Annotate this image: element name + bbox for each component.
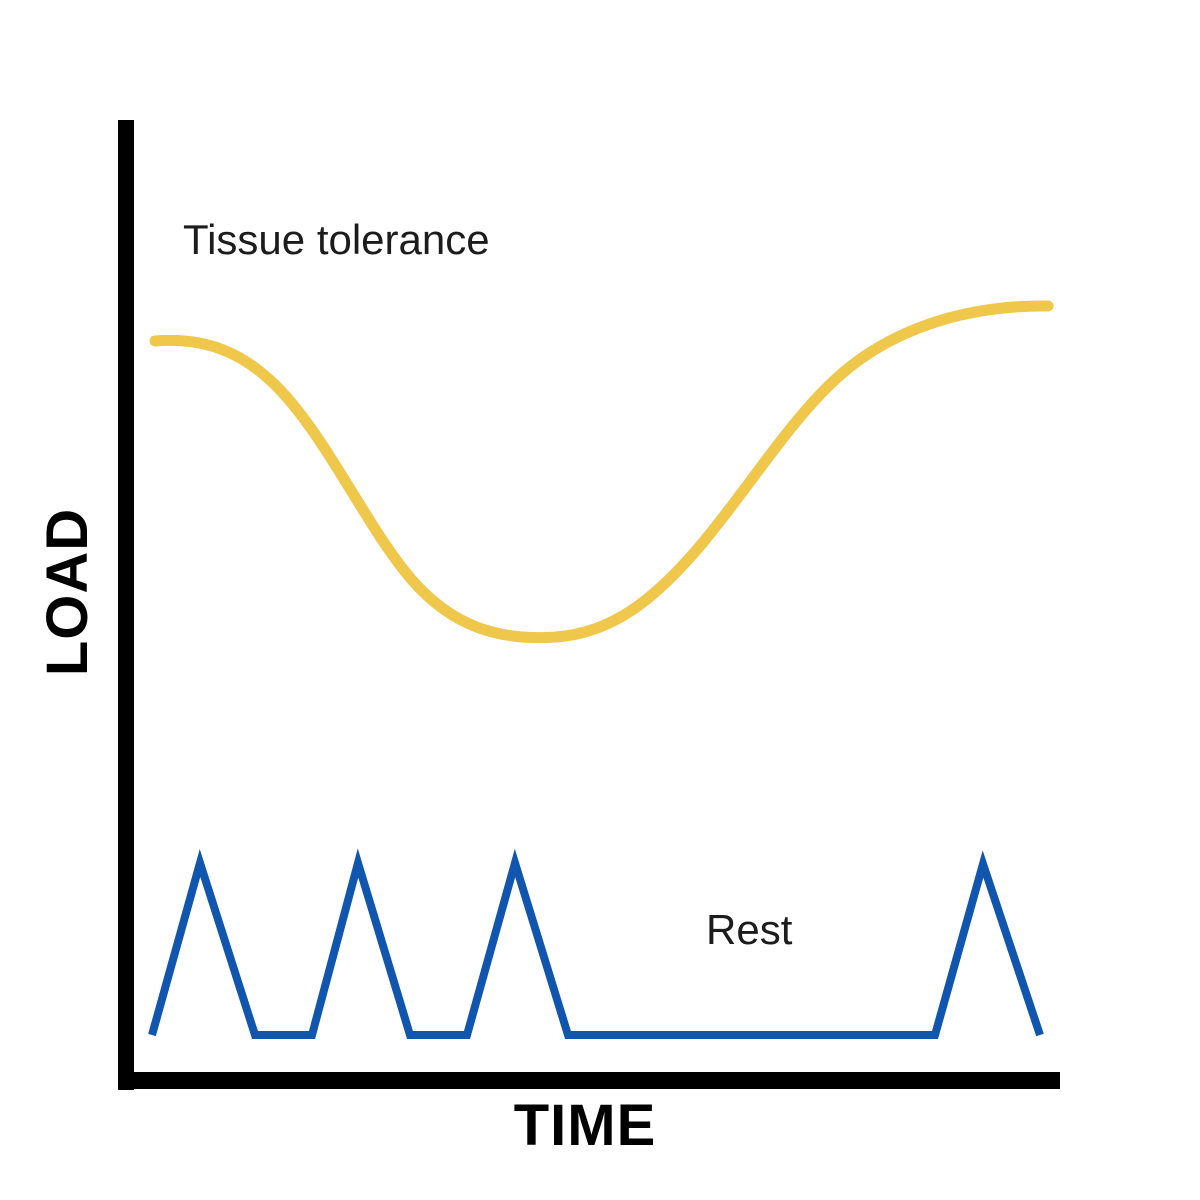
x-axis-line: [118, 1072, 1060, 1089]
y-axis-line: [118, 120, 134, 1090]
x-axis-title: TIME: [410, 1094, 760, 1158]
rest-label: Rest: [706, 906, 792, 954]
tissue-tolerance-label: Tissue tolerance: [183, 216, 490, 264]
training-load-sawtooth: [152, 863, 1040, 1035]
tissue-tolerance-curve: [155, 306, 1048, 638]
y-axis-title: LOAD: [36, 492, 100, 692]
chart-figure: LOAD TIME Tissue tolerance Rest: [0, 0, 1200, 1200]
plot-area: [0, 0, 1200, 1200]
